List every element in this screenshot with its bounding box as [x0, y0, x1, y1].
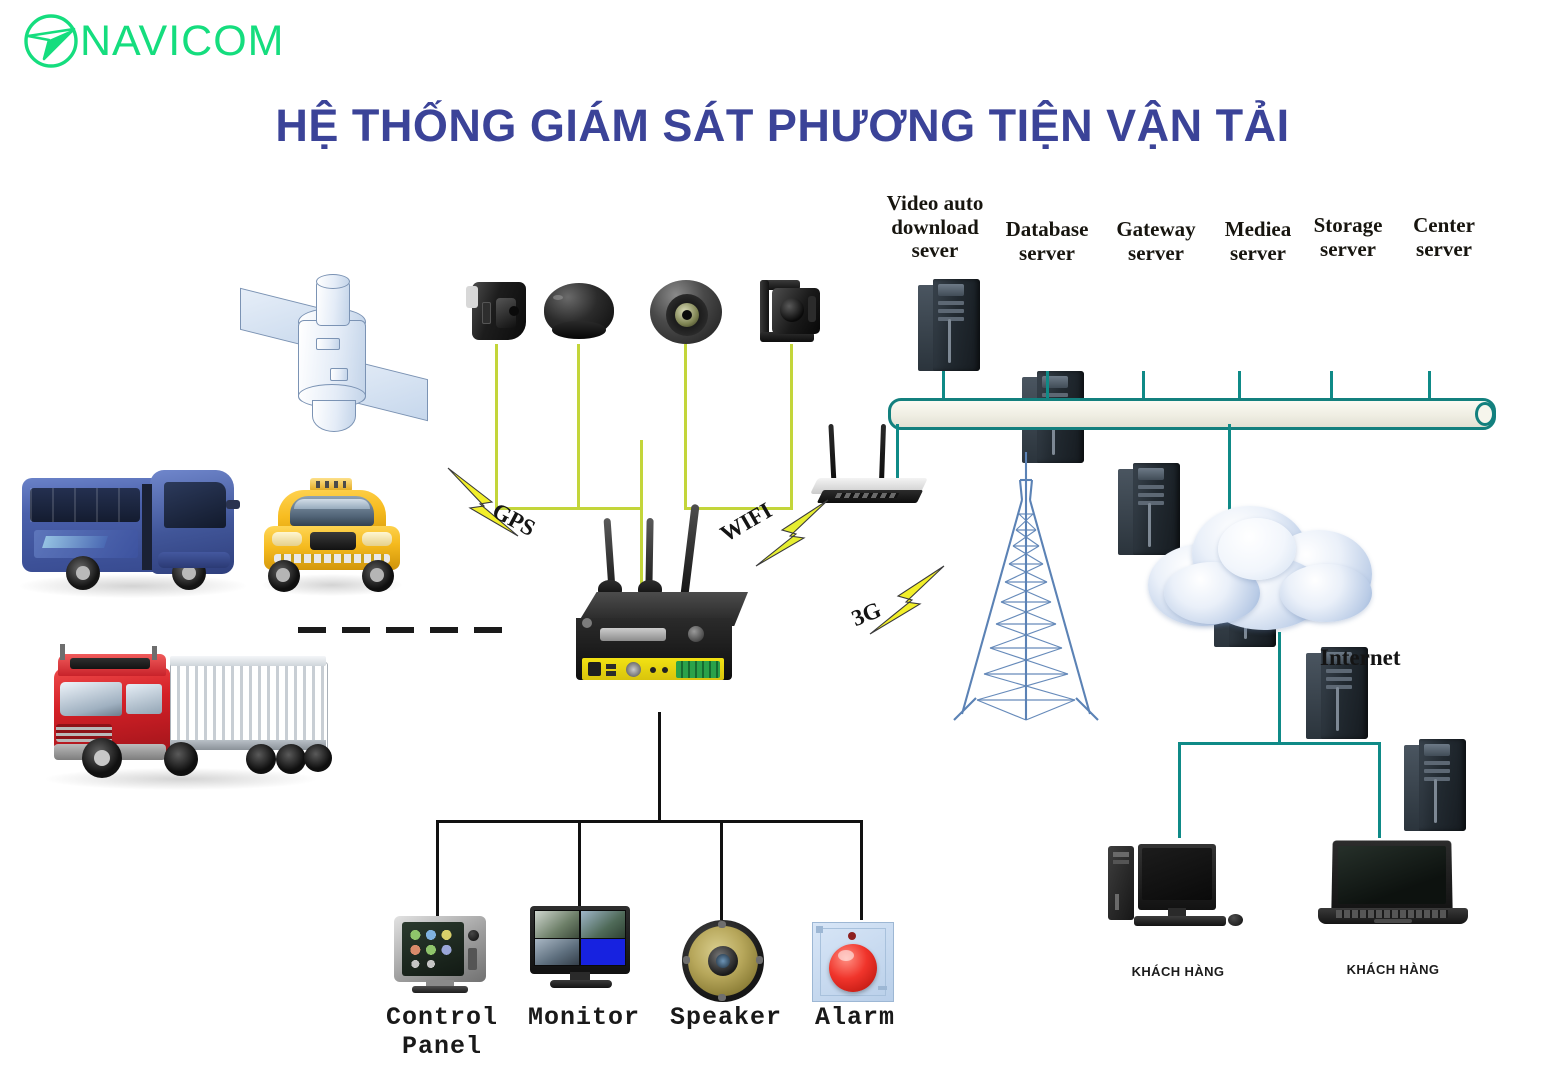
server-label-0: Video auto download sever — [876, 192, 994, 263]
laptop-client-label: KHÁCH HÀNG — [1308, 962, 1478, 977]
server-label-5: Center server — [1396, 214, 1492, 261]
monitor-label-l1: Monitor — [520, 1004, 648, 1033]
network-backbone-bus — [888, 398, 1496, 430]
alarm-label: Alarm — [796, 1004, 914, 1033]
desktop-client-label: KHÁCH HÀNG — [1098, 964, 1258, 979]
mobile-dvr-recorder-icon[interactable] — [570, 500, 750, 712]
server-label-4-l3: server — [1300, 238, 1396, 262]
server-label-1-l2: Database — [992, 218, 1102, 242]
server-label-4-l2: Storage — [1300, 214, 1396, 238]
camera-dome-icon — [544, 283, 614, 343]
brand-name: NAVICOM — [80, 20, 285, 63]
control-panel-icon[interactable] — [394, 916, 490, 998]
page-title: HỆ THỐNG GIÁM SÁT PHƯƠNG TIỆN VẬN TẢI — [0, 100, 1565, 152]
client-bus-line — [1178, 742, 1381, 745]
server-label-1: Database server — [992, 218, 1102, 265]
taxi-icon — [254, 470, 410, 602]
server-label-0-l1: Video auto — [876, 192, 994, 216]
control-panel-label-l1: Control — [372, 1004, 512, 1033]
alarm-label-l1: Alarm — [796, 1004, 914, 1033]
cloud-drop-line — [1278, 632, 1281, 744]
camera-bracket-icon — [756, 280, 826, 346]
server-label-2-l2: Gateway — [1102, 218, 1210, 242]
camera-ir-dome-icon — [650, 280, 722, 346]
server-label-0-l3: sever — [876, 239, 994, 263]
camera-link-2 — [577, 344, 580, 509]
brand-logo[interactable]: NAVICOM — [22, 10, 312, 72]
desktop-client-icon[interactable] — [1108, 838, 1248, 934]
laptop-client-icon[interactable] — [1318, 840, 1468, 932]
server-label-2-l3: server — [1102, 242, 1210, 266]
server-link-4 — [1330, 371, 1333, 400]
server-label-5-l2: Center — [1396, 214, 1492, 238]
server-link-3 — [1238, 371, 1241, 400]
server-link-1 — [1046, 371, 1049, 400]
speaker-drop — [720, 820, 723, 920]
server-label-2: Gateway server — [1102, 218, 1210, 265]
truck-icon — [36, 640, 326, 796]
bus-icon — [14, 456, 254, 604]
server-tower-5[interactable] — [1404, 739, 1466, 831]
speaker-icon[interactable] — [682, 920, 766, 1004]
server-label-3-l3: server — [1208, 242, 1308, 266]
gps-satellite-icon — [238, 272, 438, 447]
camera-link-4 — [790, 344, 793, 509]
internet-cloud-icon — [1148, 500, 1392, 632]
road-dashes — [298, 627, 514, 633]
navicom-compass-icon — [22, 12, 80, 70]
cellular-tower-icon — [952, 452, 1100, 724]
control-panel-label-l2: Panel — [372, 1033, 512, 1062]
server-link-0 — [942, 371, 945, 400]
monitor-drop — [578, 820, 581, 908]
camera-wedge-icon — [466, 278, 528, 344]
server-label-5-l3: server — [1396, 238, 1492, 262]
server-tower-0[interactable] — [918, 279, 980, 371]
alarm-drop — [860, 820, 863, 920]
speaker-label: Speaker — [664, 1004, 788, 1033]
control-panel-drop — [436, 820, 439, 918]
monitor-icon[interactable] — [530, 906, 634, 992]
monitor-label: Monitor — [520, 1004, 648, 1033]
control-panel-label: Control Panel — [372, 1004, 512, 1061]
server-label-0-l2: download — [876, 216, 994, 240]
internet-label: Internet — [1320, 645, 1400, 671]
peripheral-bus-line — [436, 820, 862, 823]
alarm-icon[interactable] — [812, 922, 894, 1002]
laptop-drop-line — [1378, 742, 1381, 838]
camera-link-3 — [684, 344, 687, 509]
server-label-3-l2: Mediea — [1208, 218, 1308, 242]
server-label-4: Storage server — [1300, 214, 1396, 261]
server-link-5 — [1428, 371, 1431, 400]
mdvr-trunk-line — [658, 712, 661, 822]
desktop-drop-line — [1178, 742, 1181, 838]
speaker-label-l1: Speaker — [664, 1004, 788, 1033]
server-label-1-l3: server — [992, 242, 1102, 266]
server-label-3: Mediea server — [1208, 218, 1308, 265]
server-link-2 — [1142, 371, 1145, 400]
